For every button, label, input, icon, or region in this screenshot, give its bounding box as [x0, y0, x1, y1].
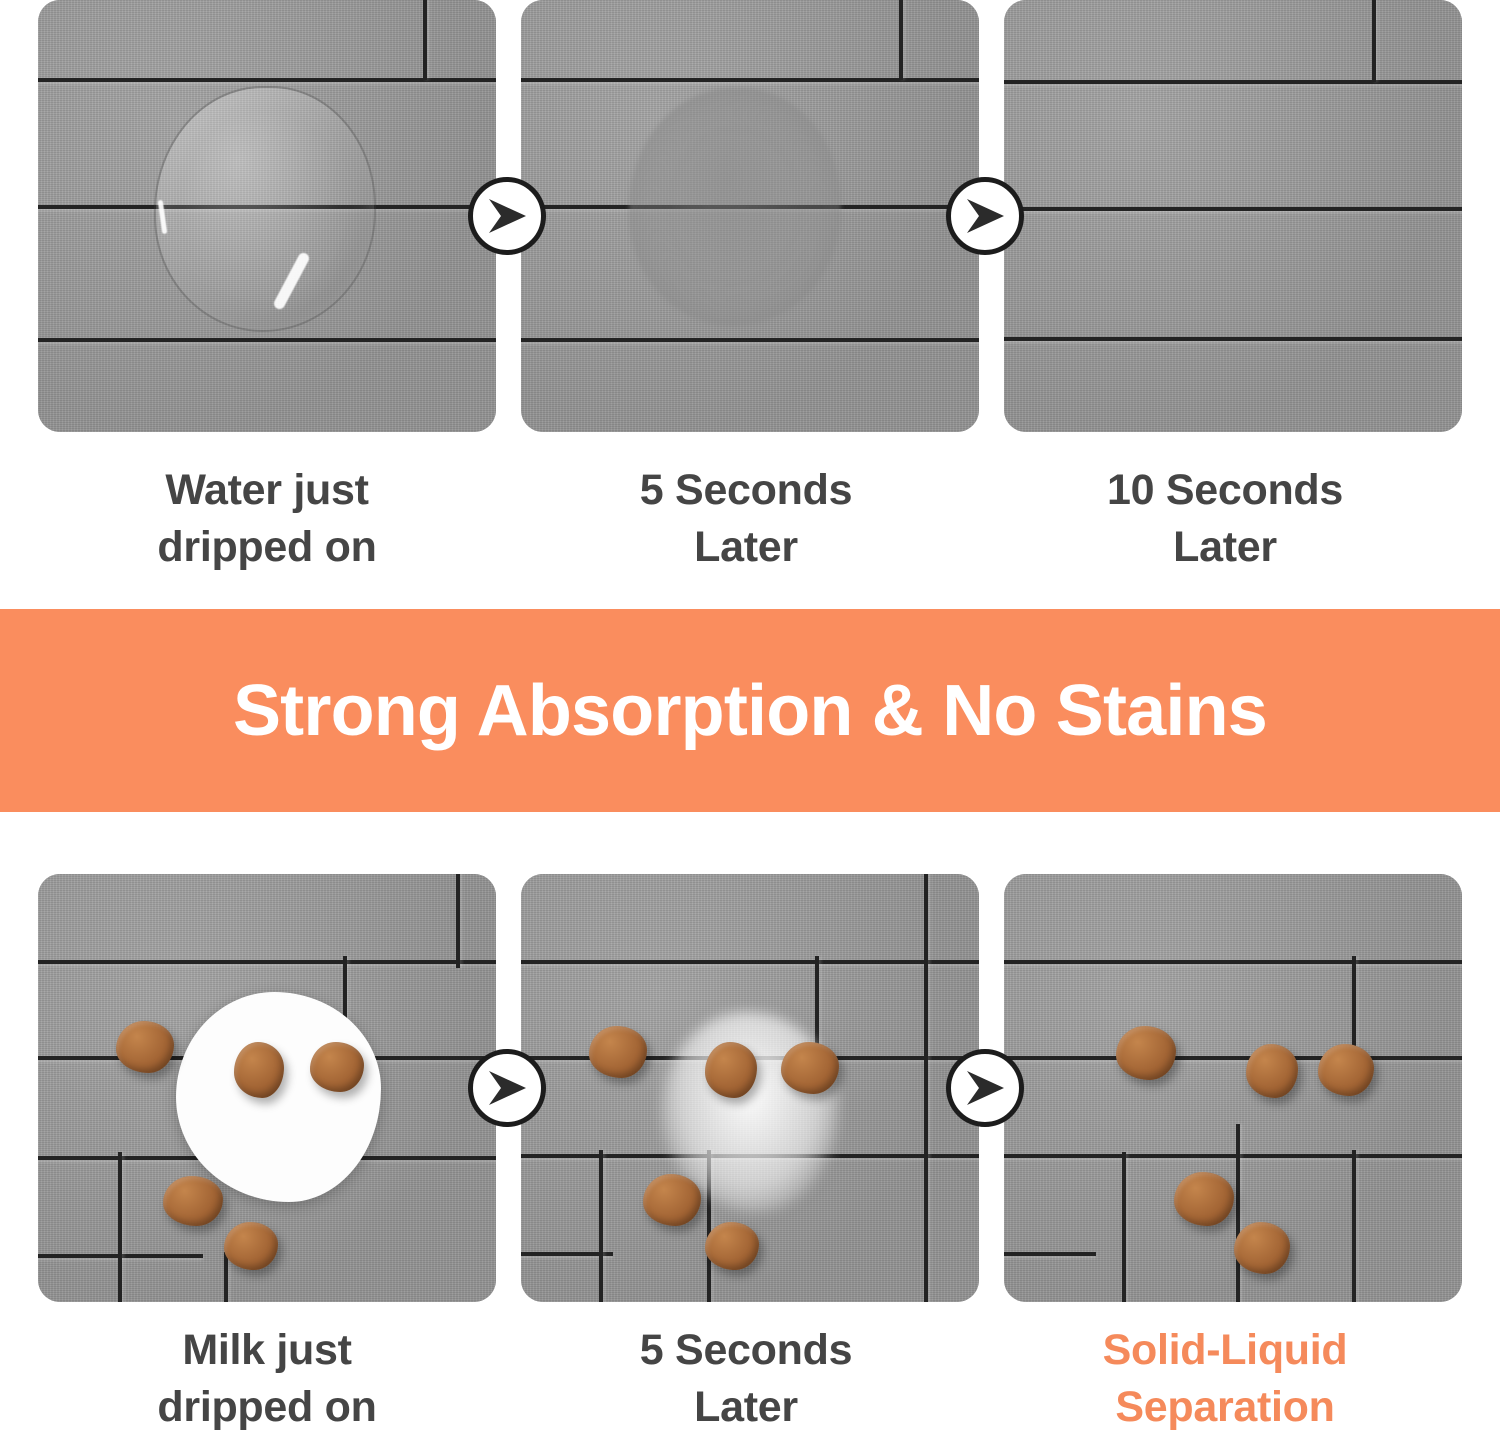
caption-water-10-seconds: 10 Seconds Later [996, 462, 1454, 576]
kibble-piece [781, 1042, 839, 1094]
water-damp-patch [629, 88, 841, 326]
panel-water-just-dripped [38, 0, 496, 432]
banner-headline: Strong Absorption & No Stains [233, 675, 1267, 747]
caption-spacer [496, 462, 517, 576]
caption-milk-5-seconds: 5 Seconds Later [517, 1322, 975, 1436]
grout-line-vertical [118, 1152, 122, 1302]
caption-water-just-dripped: Water just dripped on [38, 462, 496, 576]
kibble-piece [310, 1042, 364, 1092]
arrow-badge-1 [468, 177, 546, 255]
grout-line-vertical [1352, 1150, 1356, 1302]
grout-line-horizontal [521, 960, 979, 964]
mat-surface [1004, 874, 1462, 1302]
grout-line-horizontal [1004, 80, 1462, 84]
bottom-caption-row: Milk just dripped on 5 Seconds Later Sol… [0, 1322, 1500, 1436]
kibble-piece [163, 1176, 223, 1226]
panel-milk-5-seconds [521, 874, 979, 1302]
kibble-piece [116, 1021, 174, 1073]
play-arrow-right-icon [485, 1068, 529, 1108]
grout-line-vertical [423, 0, 427, 80]
grout-line-horizontal [1004, 337, 1462, 341]
grout-line-horizontal [521, 338, 979, 342]
top-panel-row [0, 0, 1500, 432]
grout-line-horizontal [1004, 1154, 1462, 1158]
kibble-piece [589, 1026, 647, 1078]
caption-spacer [975, 462, 996, 576]
grout-line-horizontal [1004, 207, 1462, 211]
caption-milk-just-dripped: Milk just dripped on [38, 1322, 496, 1436]
grout-line-horizontal [1004, 1056, 1462, 1060]
kibble-piece [705, 1222, 759, 1270]
caption-water-5-seconds: 5 Seconds Later [517, 462, 975, 576]
grout-line-vertical [1372, 0, 1376, 82]
highlight-banner: Strong Absorption & No Stains [0, 609, 1500, 812]
panel-water-10-seconds [1004, 0, 1462, 432]
play-arrow-right-icon [963, 1068, 1007, 1108]
grout-line-vertical [224, 1252, 228, 1302]
panel-water-5-seconds [521, 0, 979, 432]
play-arrow-right-icon [485, 196, 529, 236]
grout-line-horizontal [1004, 960, 1462, 964]
grout-line-horizontal [1004, 1252, 1096, 1256]
arrow-badge-2 [946, 177, 1024, 255]
caption-spacer [496, 1322, 517, 1436]
caption-solid-liquid-separation: Solid-Liquid Separation [996, 1322, 1454, 1436]
kibble-piece [1116, 1026, 1176, 1080]
grout-line-vertical [456, 874, 460, 968]
grout-line-horizontal [38, 960, 496, 964]
kibble-piece [234, 1042, 284, 1098]
arrow-badge-3 [468, 1049, 546, 1127]
kibble-piece [1318, 1044, 1374, 1096]
product-infographic: Water just dripped on 5 Seconds Later 10… [0, 0, 1500, 1448]
grout-line-horizontal [521, 78, 979, 82]
panel-milk-just-dripped [38, 874, 496, 1302]
grout-line-vertical [924, 874, 928, 1302]
top-caption-row: Water just dripped on 5 Seconds Later 10… [0, 462, 1500, 576]
caption-spacer [975, 1322, 996, 1436]
grout-line-vertical [899, 0, 903, 80]
water-droplet [156, 88, 374, 330]
kibble-piece [643, 1174, 701, 1226]
kibble-piece [1246, 1044, 1298, 1098]
grout-line-horizontal [38, 78, 496, 82]
kibble-piece [705, 1042, 757, 1098]
panel-solid-liquid-separation [1004, 874, 1462, 1302]
grout-line-vertical [599, 1150, 603, 1302]
play-arrow-right-icon [963, 196, 1007, 236]
grout-line-horizontal [38, 338, 496, 342]
kibble-piece [224, 1222, 278, 1270]
kibble-piece [1174, 1172, 1234, 1226]
mat-surface [1004, 0, 1462, 432]
kibble-piece [1234, 1222, 1290, 1274]
arrow-badge-4 [946, 1049, 1024, 1127]
grout-line-vertical [1122, 1152, 1126, 1302]
bottom-panel-row [0, 874, 1500, 1302]
grout-line-vertical [1236, 1124, 1240, 1302]
